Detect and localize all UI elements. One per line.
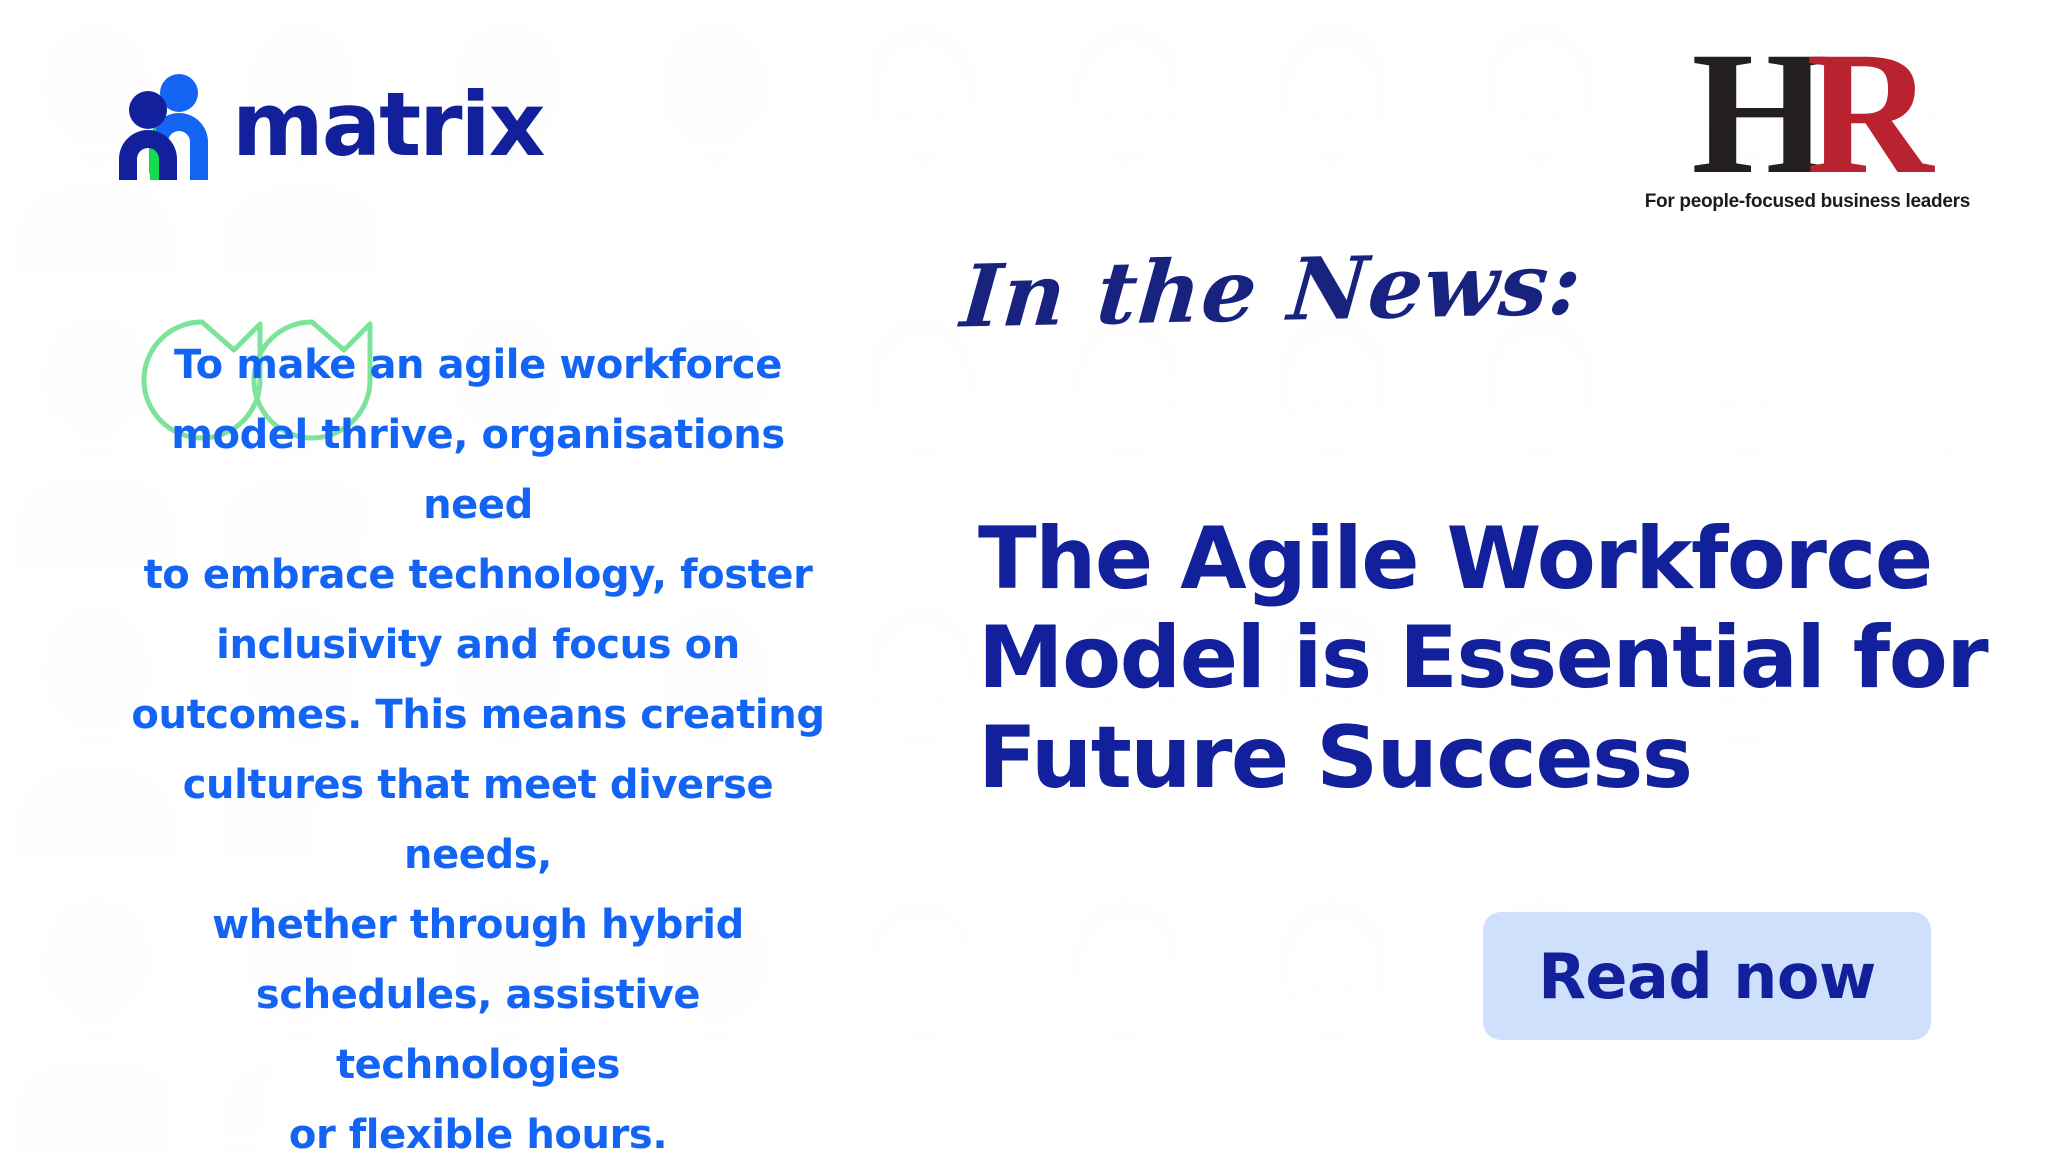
quote-line: or flexible hours.: [289, 1112, 667, 1152]
quote-line: To make an agile workforce: [174, 342, 782, 388]
headline-line: Future Success: [978, 709, 1918, 809]
page-title: The Agile Workforce Model is Essential f…: [978, 510, 1918, 809]
eyebrow-in-the-news: In the News:: [958, 242, 1586, 341]
promo-banner: matrix HR For people-focused business le…: [0, 0, 2048, 1152]
quote-line: whether through hybrid: [212, 902, 744, 948]
quote-line: outcomes. This means creating: [131, 692, 824, 738]
quote-line: to embrace technology, foster: [144, 552, 813, 598]
quote-text: To make an agile workforce model thrive,…: [118, 330, 838, 1152]
read-now-button[interactable]: Read now: [1483, 912, 1931, 1040]
matrix-logo[interactable]: matrix: [112, 70, 543, 180]
read-now-label: Read now: [1538, 940, 1876, 1013]
quote-line: schedules, assistive technologies: [256, 972, 700, 1088]
hr-letter-r: R: [1806, 16, 1923, 211]
two-people-icon: [112, 70, 216, 180]
quote-line: inclusivity and focus on: [216, 622, 740, 668]
hr-letter-h: H: [1691, 16, 1818, 211]
quote-line: model thrive, organisations need: [171, 412, 785, 528]
hr-tagline: For people-focused business leaders: [1645, 191, 1970, 213]
headline-line: The Agile Workforce: [978, 510, 1918, 610]
headline-line: Model is Essential for: [978, 609, 1918, 709]
content-layer: matrix HR For people-focused business le…: [0, 0, 2048, 1152]
hr-magazine-logo[interactable]: HR For people-focused business leaders: [1645, 38, 1970, 213]
hr-letters: HR: [1645, 38, 1970, 189]
pull-quote: To make an agile workforce model thrive,…: [118, 330, 838, 1152]
quote-line: cultures that meet diverse needs,: [183, 762, 774, 878]
matrix-wordmark: matrix: [232, 81, 543, 169]
